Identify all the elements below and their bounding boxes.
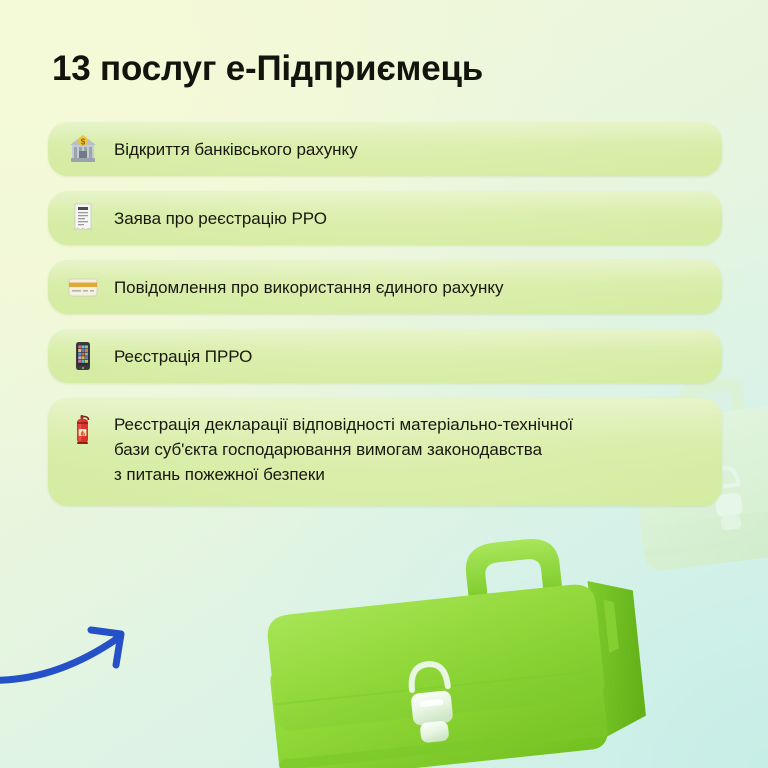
mobile-phone-icon — [66, 339, 100, 373]
receipt-icon — [66, 201, 100, 235]
service-card-bank[interactable]: $ Відкриття банківського рахунку — [48, 122, 722, 176]
service-label: Заява про реєстрацію РРО — [114, 206, 327, 231]
service-card-receipt[interactable]: Заява про реєстрацію РРО — [48, 191, 722, 245]
bank-icon: $ — [66, 132, 100, 166]
services-list: $ Відкриття банківського рахунку — [48, 122, 722, 521]
service-card-prro[interactable]: Реєстрація ПРРО — [48, 329, 722, 383]
service-label: Реєстрація декларації відповідності мате… — [114, 412, 573, 487]
svg-text:$: $ — [81, 137, 86, 146]
fire-extinguisher-icon — [66, 413, 100, 447]
poster-canvas: 13 послуг е-Підприємець $ — [0, 0, 768, 768]
service-label: Повідомлення про використання єдиного ра… — [114, 275, 503, 300]
service-label: Відкриття банківського рахунку — [114, 137, 358, 162]
page-title: 13 послуг е-Підприємець — [52, 49, 483, 89]
service-label: Реєстрація ПРРО — [114, 344, 252, 369]
credit-card-icon — [66, 270, 100, 304]
service-card-fire-safety-declaration[interactable]: Реєстрація декларації відповідності мате… — [48, 398, 722, 506]
service-card-single-account[interactable]: Повідомлення про використання єдиного ра… — [48, 260, 722, 314]
